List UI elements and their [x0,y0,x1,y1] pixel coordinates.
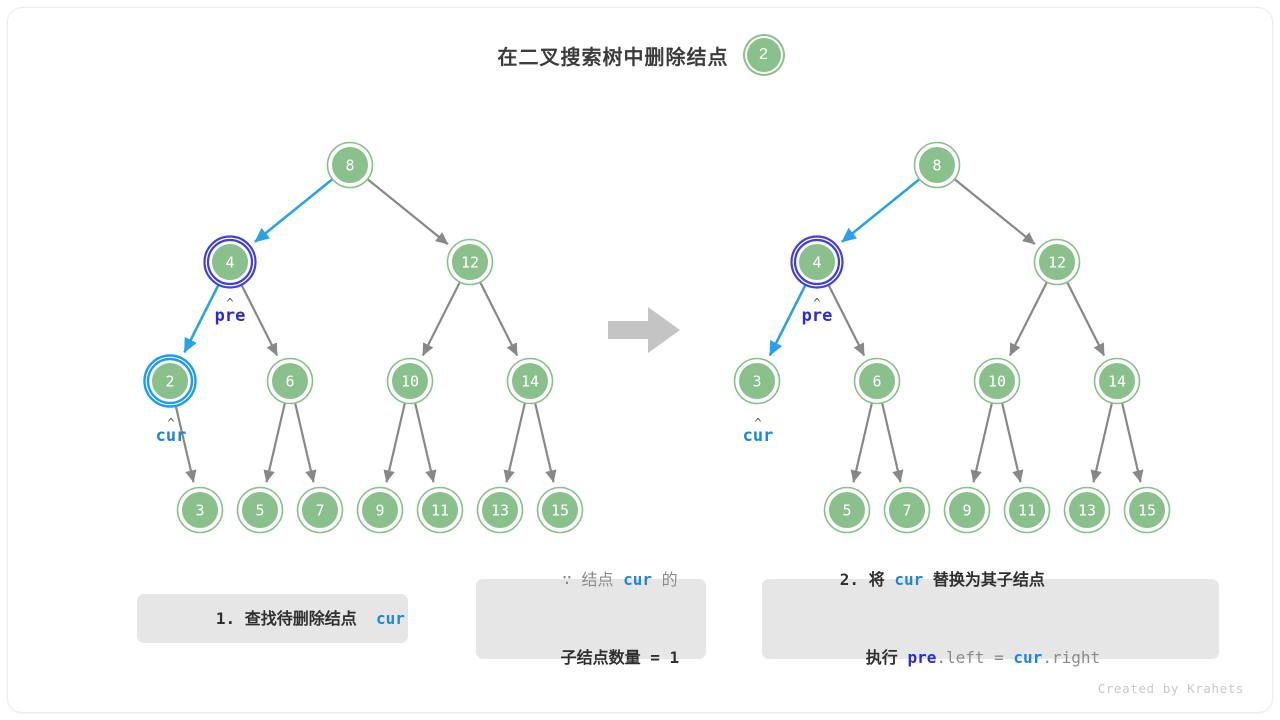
caption-step2-cur-attr: .right [1042,648,1100,667]
tree-node[interactable]: 13 [1065,488,1110,533]
node-value: 4 [225,254,234,272]
tree-edge [415,403,433,482]
tree-node[interactable]: 5 [825,488,870,533]
node-value: 15 [1138,502,1156,520]
node-value: 14 [1108,373,1126,391]
tree-edge [242,285,277,355]
tree-node[interactable]: 12 [448,240,493,285]
tree-node[interactable]: 9 [358,488,403,533]
reason-line1-prefix: ∵ 结点 [562,570,623,589]
tree-edge [882,403,900,482]
caption-step2-prefix: 2. 将 [840,570,895,589]
tree-node[interactable]: 6 [855,359,900,404]
tree-edge [1122,403,1140,482]
node-value: 8 [345,157,354,175]
credit-text: Created by Krahets [1098,681,1244,696]
tree-node[interactable]: 7 [885,488,930,533]
tree-edge [842,179,920,242]
node-value: 4 [812,254,821,272]
caption-step-2: 2. 将 cur 替换为其子结点 执行 pre.left = cur.right [762,579,1219,659]
right-tree-edges [770,179,1141,482]
tree-edge [954,179,1034,244]
tree-node[interactable]: 10 [975,359,1020,404]
reason-line1-code: cur [623,570,652,589]
node-value: 13 [1078,502,1096,520]
transition-arrow [608,307,680,353]
caption-reason: ∵ 结点 cur 的 子结点数量 = 1 [476,579,706,659]
pointer-name: pre [215,306,246,326]
tree-node[interactable]: 11 [1005,488,1050,533]
node-value: 6 [872,373,881,391]
node-value: 5 [842,502,851,520]
tree-node[interactable]: 9 [945,488,990,533]
tree-node[interactable]: 10 [388,359,433,404]
diagram-card: 在二叉搜索树中删除结点 2 84122610143579111315 84123… [8,8,1272,712]
tree-node[interactable]: 6 [268,359,313,404]
node-value: 5 [255,502,264,520]
caption-step2-pre-attr: .left [936,648,984,667]
tree-node[interactable]: 2 [145,356,196,407]
node-value: 12 [1048,254,1066,272]
tree-node[interactable]: 15 [1125,488,1170,533]
node-value: 7 [902,502,911,520]
tree-edge [506,403,524,482]
tree-edge [770,285,805,355]
caption-step1-code: cur [376,609,405,628]
right-tree-nodes: 8412361014579111315 [735,143,1170,533]
pointer-label-cur: ^cur [156,416,187,446]
caption-step2-suffix: 替换为其子结点 [923,570,1045,589]
node-value: 2 [165,373,174,391]
caption-step2-code: cur [894,570,923,589]
node-value: 10 [401,373,419,391]
tree-edge [423,282,460,355]
node-value: 7 [315,502,324,520]
tree-edge [266,403,284,482]
node-value: 11 [431,502,449,520]
tree-edge [184,285,218,352]
node-value: 9 [375,502,384,520]
tree-node[interactable]: 14 [1095,359,1140,404]
pointer-name: pre [802,306,833,326]
pointer-name: cur [156,426,187,446]
node-value: 13 [491,502,509,520]
tree-edge [367,179,447,244]
reason-line1-suffix: 的 [652,570,678,589]
caption-step2-equals: = [985,648,1014,667]
tree-node[interactable]: 8 [328,143,373,188]
tree-edge [480,282,517,355]
pointer-label-pre: ^pre [215,296,246,326]
tree-node[interactable]: 15 [538,488,583,533]
pointer-label-cur: ^cur [743,416,774,446]
tree-node[interactable]: 8 [915,143,960,188]
left-tree-edges [176,179,554,482]
tree-node[interactable]: 4 [792,237,843,288]
tree-node[interactable]: 12 [1035,240,1080,285]
reason-line2: 子结点数量 = 1 [561,648,680,667]
tree-edge [295,403,313,482]
tree-edge [973,403,991,482]
node-value: 10 [988,373,1006,391]
tree-node[interactable]: 4 [205,237,256,288]
caption-step-1: 1. 查找待删除结点 cur [137,594,408,643]
tree-edge [853,403,871,482]
pointer-name: cur [743,426,774,446]
node-value: 14 [521,373,539,391]
tree-edge [255,179,333,242]
node-value: 3 [195,502,204,520]
node-value: 9 [962,502,971,520]
node-value: 12 [461,254,479,272]
caption-step2-pre: pre [907,648,936,667]
tree-node[interactable]: 3 [735,359,780,404]
tree-edge [386,403,404,482]
tree-node[interactable]: 14 [508,359,553,404]
tree-node[interactable]: 13 [478,488,523,533]
caption-step2-cur: cur [1013,648,1042,667]
left-tree-nodes: 84122610143579111315 [145,143,583,533]
caption-step1-text: 1. 查找待删除结点 [216,609,376,628]
tree-edge [1093,403,1111,482]
tree-node[interactable]: 7 [298,488,343,533]
tree-node[interactable]: 3 [178,488,223,533]
tree-edge [829,285,864,355]
tree-node[interactable]: 5 [238,488,283,533]
tree-edge [1002,403,1020,482]
pointer-label-pre: ^pre [802,296,833,326]
node-value: 3 [752,373,761,391]
tree-edge [535,403,553,482]
tree-edge [1010,282,1047,355]
tree-edge [1067,282,1104,355]
caption-step2-exec: 执行 [866,648,908,667]
tree-node[interactable]: 11 [418,488,463,533]
node-value: 15 [551,502,569,520]
node-value: 11 [1018,502,1036,520]
node-value: 6 [285,373,294,391]
node-value: 8 [932,157,941,175]
